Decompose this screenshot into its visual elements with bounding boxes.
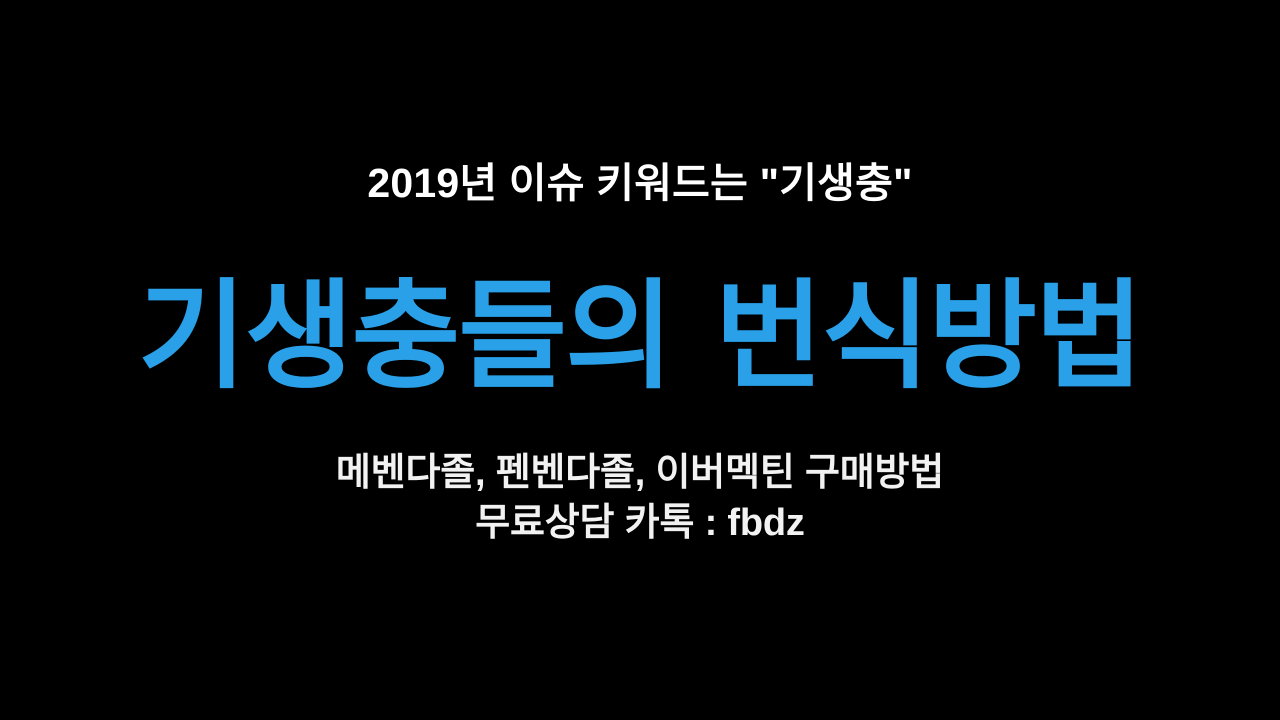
subtitle-line-1: 메벤다졸, 펜벤다졸, 이버멕틴 구매방법: [0, 448, 1280, 498]
subtitle-line-2: 무료상담 카톡 : fbdz: [0, 498, 1280, 548]
subtitle-block: 메벤다졸, 펜벤다졸, 이버멕틴 구매방법 무료상담 카톡 : fbdz: [0, 448, 1280, 548]
kicker-text: 2019년 이슈 키워드는 "기생충": [0, 163, 1280, 204]
title-card: 2019년 이슈 키워드는 "기생충" 기생충들의 번식방법 메벤다졸, 펜벤다…: [0, 0, 1280, 720]
headline-text: 기생충들의 번식방법: [0, 278, 1280, 396]
